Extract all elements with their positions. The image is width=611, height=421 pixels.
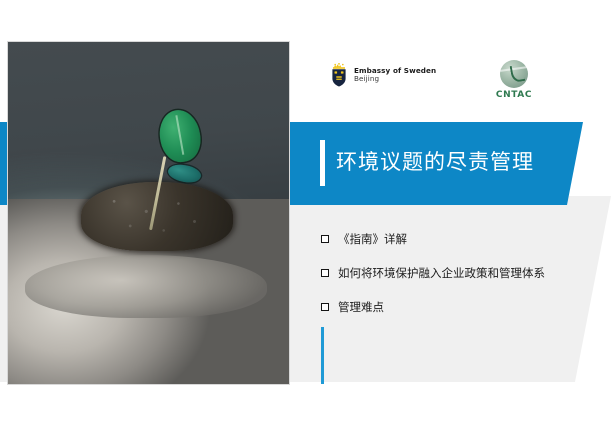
list-item: 管理难点 [321,297,571,317]
left-accent-rule [321,327,324,384]
cntac-globe-icon [500,60,528,88]
hands-holding-soil-with-seedling-photo [7,41,290,385]
title-accent-bar [320,140,325,186]
agenda-list: 《指南》详解 如何将环境保护融入企业政策和管理体系 管理难点 [321,229,571,331]
presentation-slide: Embassy of Sweden Beijing CNTAC 环境议题的尽责管… [0,0,611,421]
logo-row: Embassy of Sweden Beijing CNTAC [330,60,560,102]
list-item: 如何将环境保护融入企业政策和管理体系 [321,263,571,283]
cntac-logo: CNTAC [485,60,543,100]
cntac-logo-label: CNTAC [485,90,543,100]
list-item-label: 管理难点 [338,297,571,317]
sweden-logo-text: Embassy of Sweden Beijing [354,67,436,84]
embassy-of-sweden-logo: Embassy of Sweden Beijing [330,63,436,87]
list-item: 《指南》详解 [321,229,571,249]
list-item-label: 如何将环境保护融入企业政策和管理体系 [338,263,571,283]
hollow-square-bullet-icon [321,235,329,243]
sweden-crowned-shield-icon [330,63,348,87]
hollow-square-bullet-icon [321,303,329,311]
page-title: 环境议题的尽责管理 [336,146,586,178]
list-item-label: 《指南》详解 [338,229,571,249]
sweden-logo-city: Beijing [354,75,436,83]
hollow-square-bullet-icon [321,269,329,277]
